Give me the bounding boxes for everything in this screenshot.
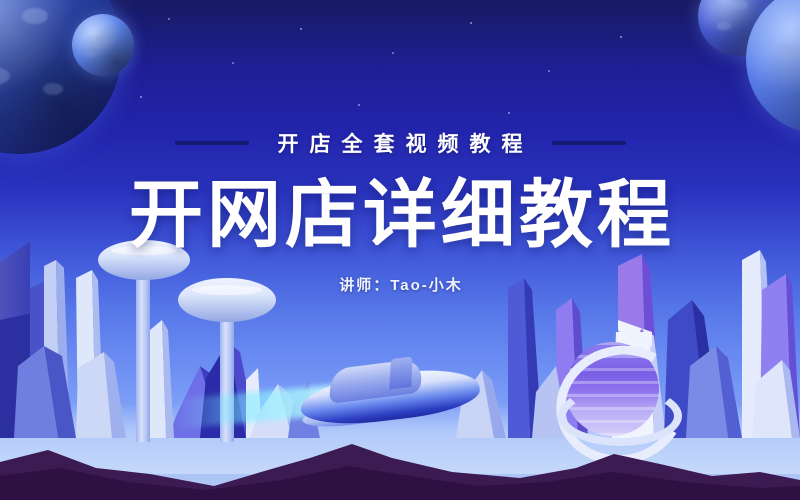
slide-subtitle: 开店全套视频教程: [267, 128, 534, 158]
subtitle-row: 开店全套视频教程: [0, 128, 800, 158]
decorative-rule-right: [552, 141, 626, 145]
moon-shading: [72, 14, 134, 76]
title-block: 开店全套视频教程 开网店详细教程 讲师：Tao-小木: [0, 128, 800, 295]
presentation-slide: 开店全套视频教程 开网店详细教程 讲师：Tao-小木: [0, 0, 800, 500]
decorative-rule-left: [175, 141, 249, 145]
small-moon-left-icon: [72, 14, 134, 76]
foreground-terrain: [0, 428, 800, 500]
flying-shuttle: [286, 346, 496, 438]
presenter-credit: 讲师：Tao-小木: [0, 274, 800, 295]
shuttle-fin: [389, 356, 412, 389]
slide-title: 开网店详细教程: [0, 176, 800, 254]
